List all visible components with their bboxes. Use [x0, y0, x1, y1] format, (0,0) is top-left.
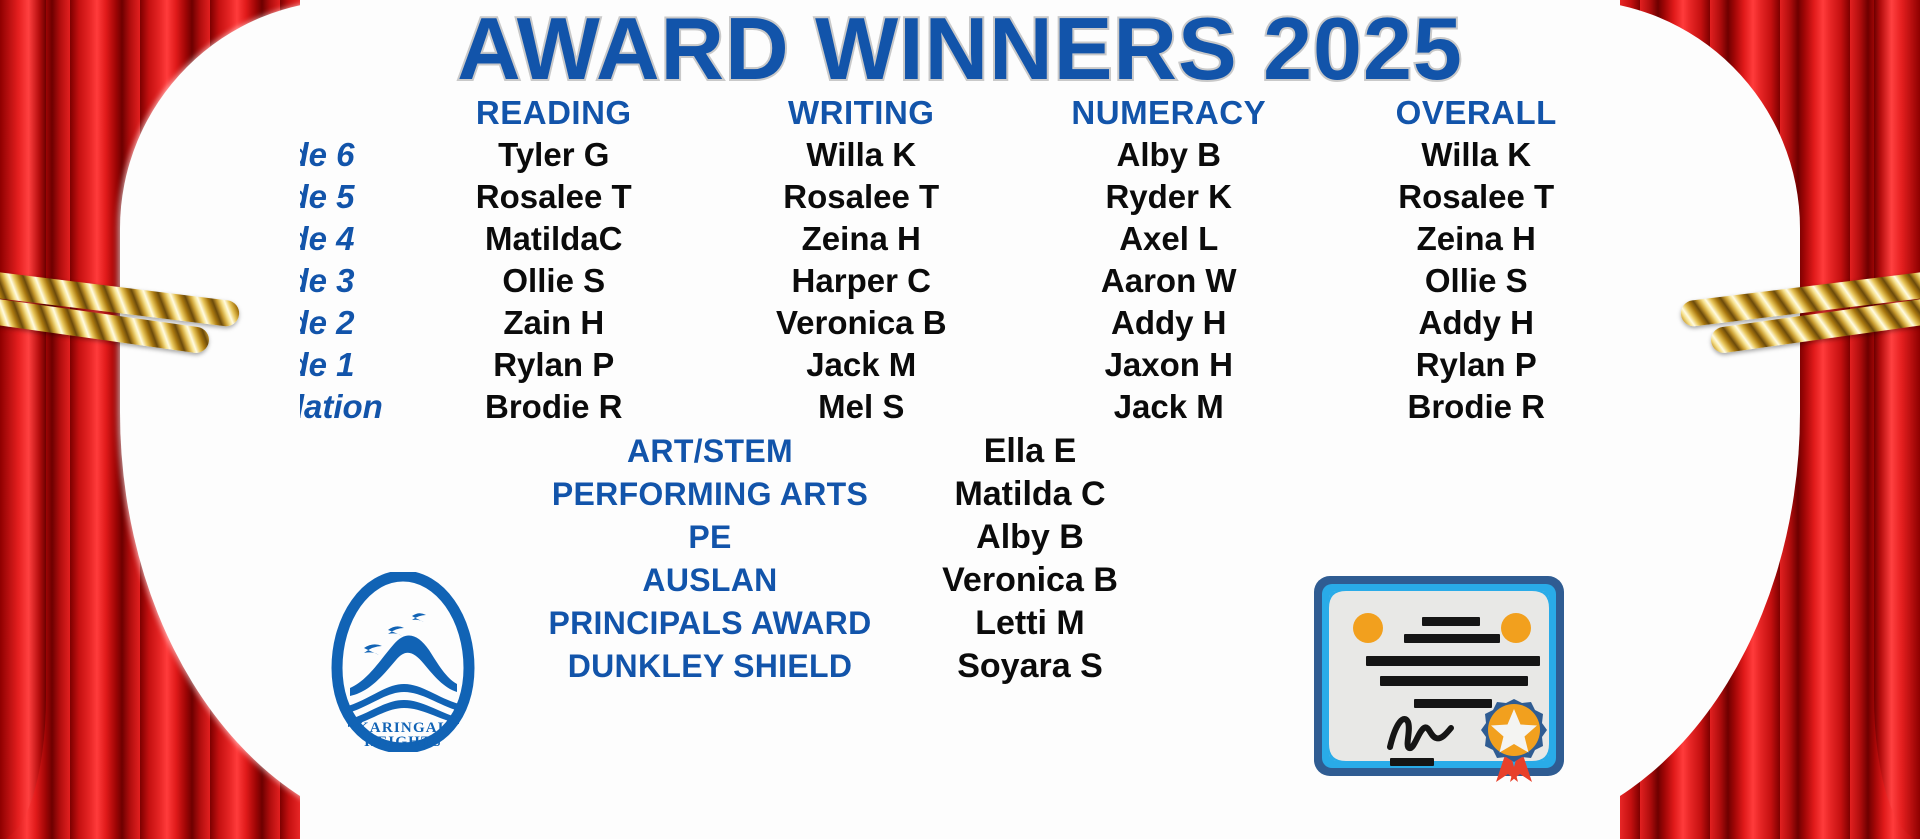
special-award-category: DUNKLEY SHIELD — [540, 645, 880, 688]
special-award-category: ART/STEM — [540, 430, 880, 473]
winner-cell: Zeina H — [1323, 218, 1631, 260]
winner-cell: Ollie S — [400, 260, 708, 302]
winner-cell: Jack M — [708, 344, 1016, 386]
winner-cell: Rylan P — [400, 344, 708, 386]
winner-cell: Ryder K — [1015, 176, 1323, 218]
special-award-winner: Veronica B — [880, 559, 1180, 602]
winner-cell: Mel S — [708, 386, 1016, 428]
award-table: READING WRITING NUMERACY OVERALL Grade 6… — [200, 92, 1630, 428]
certificate-icon — [1310, 572, 1580, 787]
winner-cell: MatildaC — [400, 218, 708, 260]
right-curtain-decoration — [1620, 0, 1920, 839]
school-logo-icon: KARINGAL HEIGHTS — [328, 572, 478, 752]
winner-cell: Axel L — [1015, 218, 1323, 260]
winner-cell: Alby B — [1015, 134, 1323, 176]
winner-cell: Jaxon H — [1015, 344, 1323, 386]
award-winners-poster: AWARD WINNERS 2025 READING WRITING NUMER… — [0, 0, 1920, 839]
winner-cell: Rosalee T — [708, 176, 1016, 218]
winner-cell: Rosalee T — [400, 176, 708, 218]
curtain-inner-sliver — [0, 0, 46, 839]
column-header-writing: WRITING — [708, 92, 1016, 134]
special-award-winner: Soyara S — [880, 645, 1180, 688]
column-header-overall: OVERALL — [1323, 92, 1631, 134]
special-award-winner: Letti M — [880, 602, 1180, 645]
special-awards-grid: ART/STEM Ella E PERFORMING ARTS Matilda … — [540, 430, 1200, 688]
left-curtain-decoration — [0, 0, 300, 839]
special-award-winner: Matilda C — [880, 473, 1180, 516]
winner-cell: Zeina H — [708, 218, 1016, 260]
winner-cell: Zain H — [400, 302, 708, 344]
special-award-category: PERFORMING ARTS — [540, 473, 880, 516]
special-award-category: AUSLAN — [540, 559, 880, 602]
svg-text:HEIGHTS: HEIGHTS — [364, 734, 442, 750]
winner-cell: Aaron W — [1015, 260, 1323, 302]
special-award-winner: Alby B — [880, 516, 1180, 559]
winner-cell: Willa K — [708, 134, 1016, 176]
special-award-category: PE — [540, 516, 880, 559]
winner-cell: Willa K — [1323, 134, 1631, 176]
winner-cell: Addy H — [1323, 302, 1631, 344]
column-header-numeracy: NUMERACY — [1015, 92, 1323, 134]
winner-cell: Tyler G — [400, 134, 708, 176]
winner-cell: Brodie R — [400, 386, 708, 428]
column-header-reading: READING — [400, 92, 708, 134]
winner-cell: Rosalee T — [1323, 176, 1631, 218]
winner-cell: Rylan P — [1323, 344, 1631, 386]
winner-cell: Harper C — [708, 260, 1016, 302]
winner-cell: Brodie R — [1323, 386, 1631, 428]
winner-cell: Ollie S — [1323, 260, 1631, 302]
curtain-inner-sliver — [1874, 0, 1920, 839]
winner-cell: Jack M — [1015, 386, 1323, 428]
special-award-category: PRINCIPALS AWARD — [540, 602, 880, 645]
winner-cell: Veronica B — [708, 302, 1016, 344]
winner-cell: Addy H — [1015, 302, 1323, 344]
special-award-winner: Ella E — [880, 430, 1180, 473]
